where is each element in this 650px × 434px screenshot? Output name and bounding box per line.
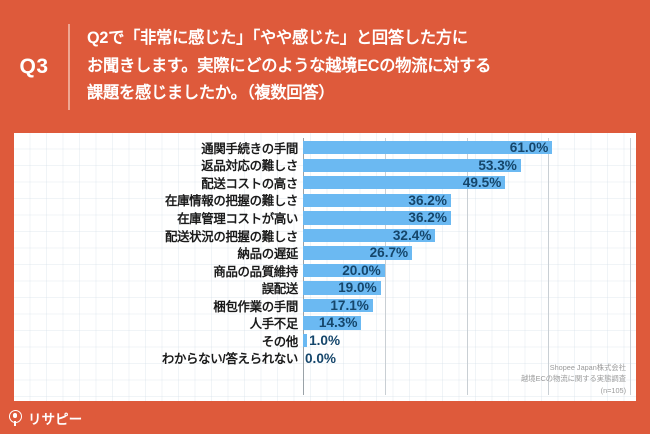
chart-row: 在庫管理コストが高い36.2% — [14, 209, 636, 227]
magnifier-icon — [9, 410, 24, 425]
question-line-3: 課題を感じましたか。（複数回答） — [87, 80, 491, 108]
category-label: 商品の品質維持 — [14, 262, 303, 280]
chart-row: その他1.0% — [14, 332, 636, 350]
chart-row: 梱包作業の手間17.1% — [14, 297, 636, 315]
survey-slide: Q3 Q2で「非常に感じた」「やや感じた」と回答した方に お聞きします。実際にど… — [0, 0, 650, 434]
source-line-3: (n=105) — [521, 385, 626, 397]
chart-row: 納品の遅延26.7% — [14, 244, 636, 262]
bar-value-label: 61.0% — [510, 139, 553, 157]
chart-row: 人手不足14.3% — [14, 314, 636, 332]
bar-value-label: 17.1% — [330, 297, 373, 315]
question-line-1: Q2で「非常に感じた」「やや感じた」と回答した方に — [87, 25, 491, 53]
question-header: Q3 Q2で「非常に感じた」「やや感じた」と回答した方に お聞きします。実際にど… — [0, 0, 650, 133]
category-label: その他 — [14, 332, 303, 350]
bar-value-label: 36.2% — [408, 192, 451, 210]
risapy-logo[interactable]: リサピー — [0, 401, 96, 434]
bar-area: 17.1% — [303, 297, 636, 315]
footer: リサピー — [0, 401, 650, 434]
bar-area: 61.0% — [303, 139, 636, 157]
source-note: Shopee Japan株式会社 越境ECの物流に関する実態調査 (n=105) — [521, 362, 626, 397]
category-label: 配送コストの高さ — [14, 174, 303, 192]
bar-area: 32.4% — [303, 227, 636, 245]
category-label: 梱包作業の手間 — [14, 297, 303, 315]
chart-card: 通関手続きの手間61.0%返品対応の難しさ53.3%配送コストの高さ49.5%在… — [14, 133, 636, 401]
bar-area: 53.3% — [303, 157, 636, 175]
bar-area: 36.2% — [303, 209, 636, 227]
chart-row: 通関手続きの手間61.0% — [14, 139, 636, 157]
bar-value-label: 26.7% — [370, 244, 413, 262]
category-label: 在庫情報の把握の難しさ — [14, 191, 303, 209]
bar-value-label: 36.2% — [408, 209, 451, 227]
bar-value-label: 49.5% — [463, 174, 506, 192]
logo-label: リサピー — [28, 408, 82, 428]
bar-value-label: 20.0% — [342, 262, 385, 280]
question-text: Q2で「非常に感じた」「やや感じた」と回答した方に お聞きします。実際にどのよう… — [87, 25, 507, 109]
category-label: 人手不足 — [14, 314, 303, 332]
category-label: 在庫管理コストが高い — [14, 209, 303, 227]
category-label: わからない/答えられない — [14, 349, 303, 367]
chart-row: 配送コストの高さ49.5% — [14, 174, 636, 192]
source-line-1: Shopee Japan株式会社 — [521, 362, 626, 374]
chart-rows: 通関手続きの手間61.0%返品対応の難しさ53.3%配送コストの高さ49.5%在… — [14, 139, 636, 367]
chart-row: 配送状況の把握の難しさ32.4% — [14, 227, 636, 245]
bar-value-label: 19.0% — [338, 279, 381, 297]
header-divider — [68, 24, 70, 110]
bar-area: 19.0% — [303, 279, 636, 297]
chart-row: 誤配送19.0% — [14, 279, 636, 297]
question-number: Q3 — [0, 55, 68, 79]
bar-value-label: 0.0% — [303, 350, 336, 368]
bar-value-label: 14.3% — [319, 314, 362, 332]
bar-value-label: 32.4% — [393, 227, 436, 245]
question-line-2: お聞きします。実際にどのような越境ECの物流に対する — [87, 53, 491, 81]
category-label: 配送状況の把握の難しさ — [14, 227, 303, 245]
bar-area: 26.7% — [303, 244, 636, 262]
bar-area: 14.3% — [303, 314, 636, 332]
source-line-2: 越境ECの物流に関する実態調査 — [521, 373, 626, 385]
bar-area: 1.0% — [303, 332, 636, 350]
category-label: 返品対応の難しさ — [14, 156, 303, 174]
bar-value-label: 53.3% — [478, 157, 521, 175]
bar-area: 49.5% — [303, 174, 636, 192]
bar-area: 36.2% — [303, 192, 636, 210]
chart-row: 在庫情報の把握の難しさ36.2% — [14, 192, 636, 210]
chart-row: 返品対応の難しさ53.3% — [14, 157, 636, 175]
category-label: 納品の遅延 — [14, 244, 303, 262]
chart-row: 商品の品質維持20.0% — [14, 262, 636, 280]
bar-value-label: 1.0% — [307, 332, 340, 350]
category-label: 通関手続きの手間 — [14, 139, 303, 157]
category-label: 誤配送 — [14, 279, 303, 297]
bar-area: 20.0% — [303, 262, 636, 280]
